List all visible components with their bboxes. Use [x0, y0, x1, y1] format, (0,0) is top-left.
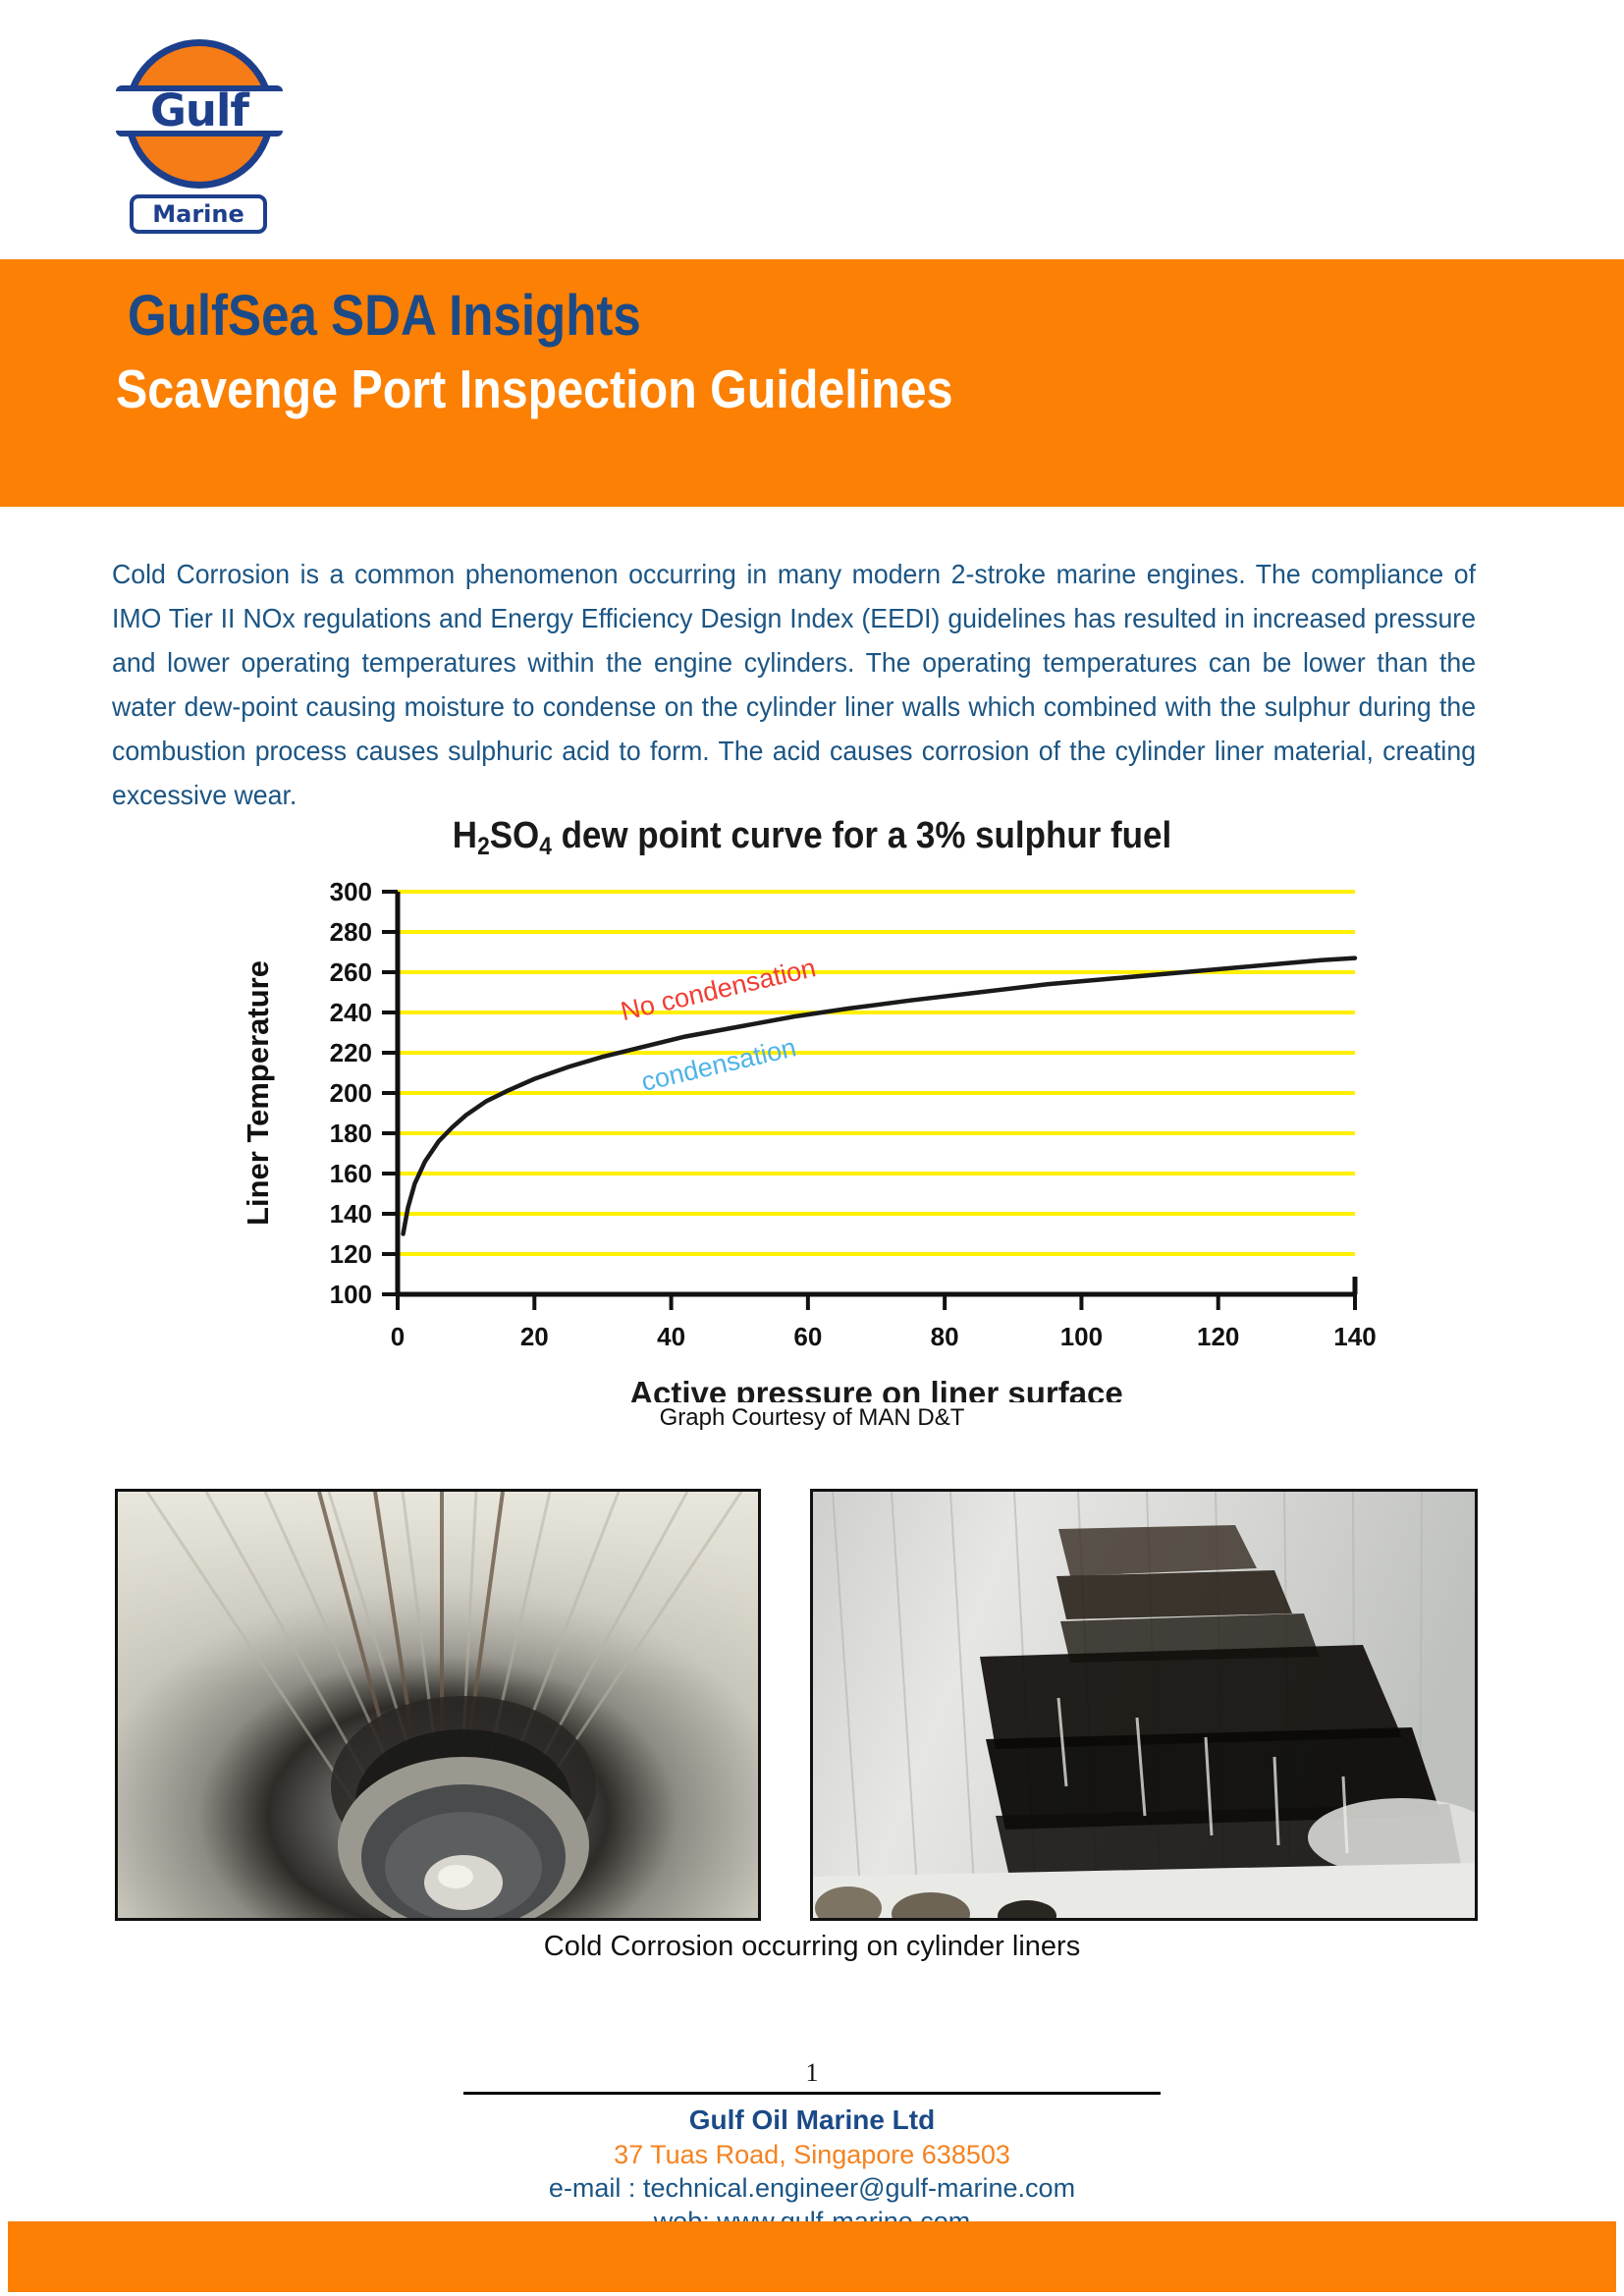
page-title: GulfSea SDA Insights [128, 283, 641, 349]
chart-credit: Graph Courtesy of MAN D&T [0, 1404, 1624, 1432]
page-footer: 1 Gulf Oil Marine Ltd 37 Tuas Road, Sing… [0, 2058, 1624, 2237]
footer-address: 37 Tuas Road, Singapore 638503 [0, 2140, 1624, 2170]
document-page: Gulf Marine GulfSea SDA Insights Scaveng… [0, 0, 1624, 2296]
dew-point-chart: H2SO4 dew point curve for a 3% sulphur f… [0, 815, 1624, 1444]
photo-liner-deposits [810, 1489, 1478, 1921]
footer-email[interactable]: e-mail : technical.engineer@gulf-marine.… [0, 2173, 1624, 2204]
header-band: GulfSea SDA Insights Scavenge Port Inspe… [0, 259, 1624, 507]
photo-caption: Cold Corrosion occurring on cylinder lin… [0, 1931, 1624, 1963]
photo-liner-bore [115, 1489, 761, 1921]
chart-annotation: No condensation [618, 953, 818, 1026]
page-number: 1 [0, 2058, 1624, 2088]
y-tick-label: 260 [330, 957, 372, 987]
footer-company: Gulf Oil Marine Ltd [0, 2105, 1624, 2136]
x-tick-label: 0 [391, 1322, 405, 1351]
chart-title-so: SO [490, 815, 540, 856]
intro-paragraph: Cold Corrosion is a common phenomenon oc… [112, 552, 1476, 817]
photo-row [0, 1489, 1624, 1921]
x-tick-label: 20 [520, 1322, 549, 1351]
y-tick-label: 280 [330, 917, 372, 947]
chart-plot: 1001201401601802002202402602803000204060… [211, 872, 1409, 1402]
liner-bore-illustration [118, 1492, 758, 1918]
y-tick-label: 100 [330, 1280, 372, 1309]
y-tick-label: 160 [330, 1159, 372, 1188]
x-tick-label: 140 [1333, 1322, 1376, 1351]
footer-divider [463, 2092, 1161, 2095]
y-tick-label: 180 [330, 1119, 372, 1148]
x-tick-label: 40 [657, 1322, 685, 1351]
page-subtitle: Scavenge Port Inspection Guidelines [116, 357, 953, 420]
chart-title-h: H [453, 815, 477, 856]
x-tick-label: 120 [1197, 1322, 1239, 1351]
x-tick-label: 100 [1060, 1322, 1103, 1351]
liner-deposit-illustration [813, 1492, 1475, 1918]
gulf-marine-logo: Gulf Marine [116, 39, 283, 216]
bottom-orange-band [8, 2221, 1616, 2292]
y-tick-label: 240 [330, 998, 372, 1027]
y-tick-label: 200 [330, 1078, 372, 1108]
y-tick-label: 300 [330, 877, 372, 906]
logo-marine-badge: Marine [130, 194, 267, 234]
chart-title: H2SO4 dew point curve for a 3% sulphur f… [65, 815, 1559, 861]
y-tick-label: 220 [330, 1038, 372, 1067]
x-tick-label: 80 [931, 1322, 959, 1351]
logo-wordmark: Gulf [125, 82, 274, 139]
y-tick-label: 120 [330, 1239, 372, 1269]
y-tick-label: 140 [330, 1199, 372, 1229]
x-tick-label: 60 [793, 1322, 822, 1351]
x-axis-label: Active pressure on liner surface [629, 1375, 1123, 1402]
data-line [404, 958, 1355, 1234]
chart-title-rest: dew point curve for a 3% sulphur fuel [552, 815, 1171, 856]
y-axis-label: Liner Temperature [241, 960, 275, 1226]
chart-title-sub2: 2 [477, 834, 490, 860]
chart-title-sub4: 4 [539, 834, 552, 860]
gulf-logo-disc: Gulf [125, 39, 274, 189]
